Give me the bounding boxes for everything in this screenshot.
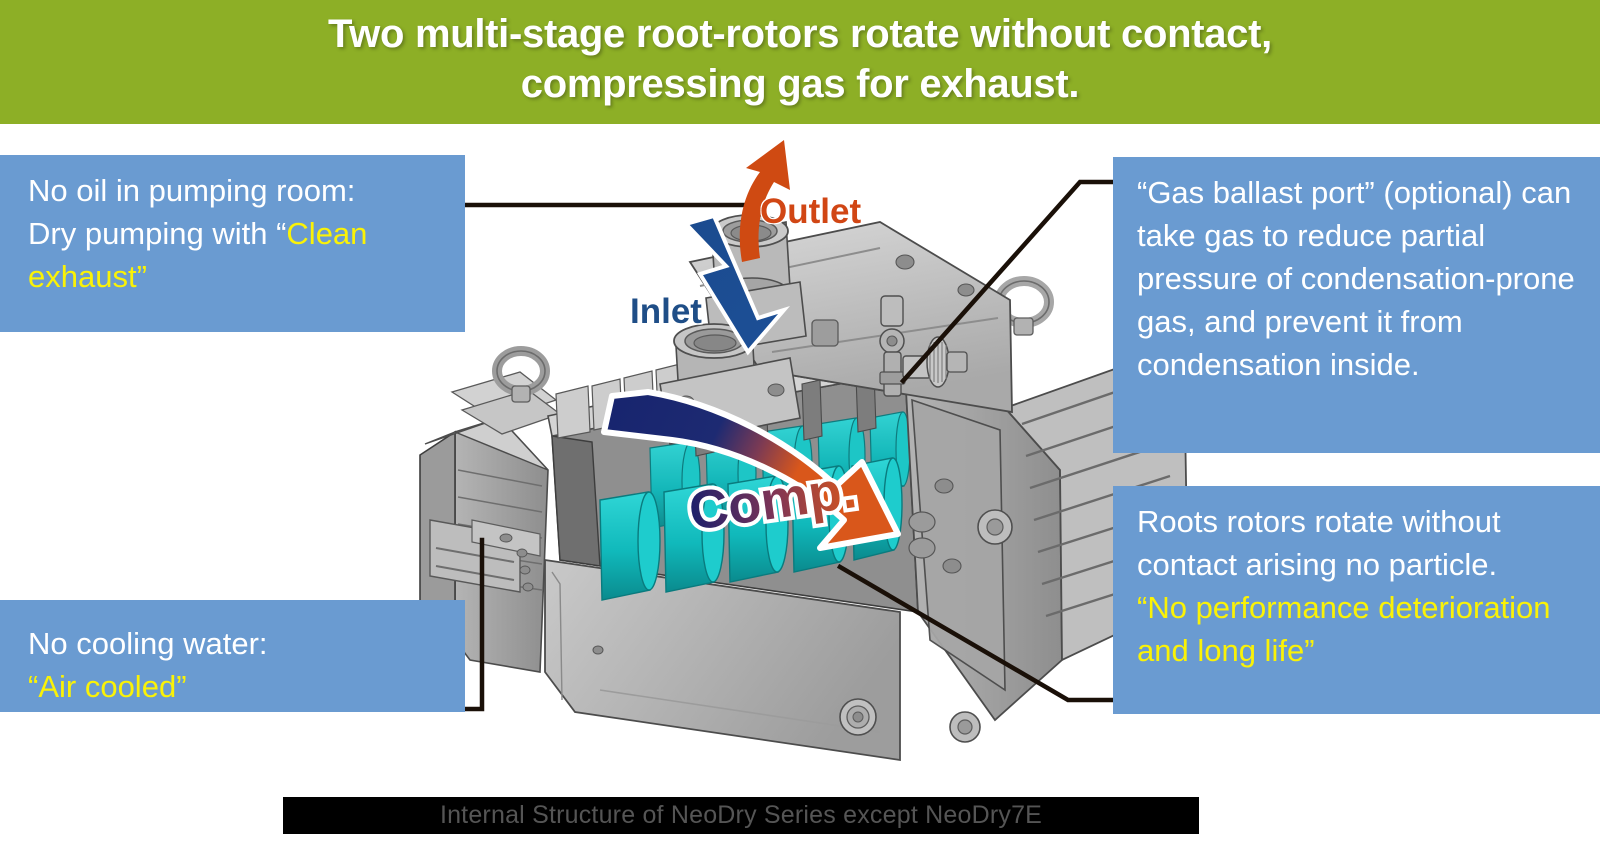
- leader-lines: [465, 182, 1138, 709]
- quote-open: “: [1137, 590, 1147, 625]
- pump-chamber: [548, 363, 1012, 612]
- no-oil-line2: Dry pumping with “Clean exhaust”: [28, 212, 443, 298]
- outlet-label: Outlet: [760, 192, 861, 232]
- roots-rotors: [600, 412, 910, 600]
- air-cooled-callout: No cooling water: “Air cooled”: [0, 600, 465, 712]
- no-oil-callout: No oil in pumping room: Dry pumping with…: [0, 155, 465, 332]
- lifting-eye-right: [999, 281, 1049, 335]
- compression-label: Comp.: [685, 459, 860, 542]
- roots-rotor-line2: “No performance deterioration and long l…: [1137, 586, 1578, 672]
- air-cooled-line1: No cooling water:: [28, 622, 443, 665]
- leader-roots-rotor: [840, 567, 1113, 700]
- leader-gas-ballast: [903, 182, 1138, 381]
- top-cover: [690, 222, 1012, 412]
- gas-ballast-text: “Gas ballast port” (optional) can take g…: [1137, 175, 1575, 382]
- quote-close: ”: [176, 669, 186, 704]
- gas-ballast-port: [880, 296, 967, 396]
- slide-canvas: Two multi-stage root-rotors rotate witho…: [0, 0, 1600, 844]
- roots-rotor-line1: Roots rotors rotate without contact aris…: [1137, 500, 1578, 586]
- banner-title: Two multi-stage root-rotors rotate witho…: [328, 9, 1272, 109]
- roots-rotor-callout: Roots rotors rotate without contact aris…: [1113, 486, 1600, 714]
- lifting-eye-left: [497, 351, 545, 402]
- air-cooled-line2: “Air cooled”: [28, 665, 443, 708]
- pump-base: [545, 560, 980, 760]
- outlet-port: [706, 215, 806, 352]
- no-oil-prefix: Dry pumping with: [28, 216, 276, 251]
- header-banner: Two multi-stage root-rotors rotate witho…: [0, 0, 1600, 124]
- long-life-highlight: No performance deterioration and long li…: [1137, 590, 1551, 668]
- quote-close: ”: [137, 259, 147, 294]
- quote-close: ”: [1304, 633, 1314, 668]
- compression-label-outline: Comp.: [685, 459, 860, 542]
- gas-ballast-callout: “Gas ballast port” (optional) can take g…: [1113, 157, 1600, 453]
- quote-open: “: [276, 216, 286, 251]
- compression-arrow: [604, 392, 898, 548]
- rear-plates: [472, 520, 540, 591]
- quote-open: “: [28, 669, 38, 704]
- inlet-label: Inlet: [630, 292, 702, 332]
- inlet-port: [660, 324, 800, 444]
- air-cooled-highlight: Air cooled: [38, 669, 176, 704]
- leader-air-cooled: [465, 540, 482, 709]
- no-oil-line1: No oil in pumping room:: [28, 169, 443, 212]
- caption-bar: Internal Structure of NeoDry Series exce…: [283, 797, 1199, 834]
